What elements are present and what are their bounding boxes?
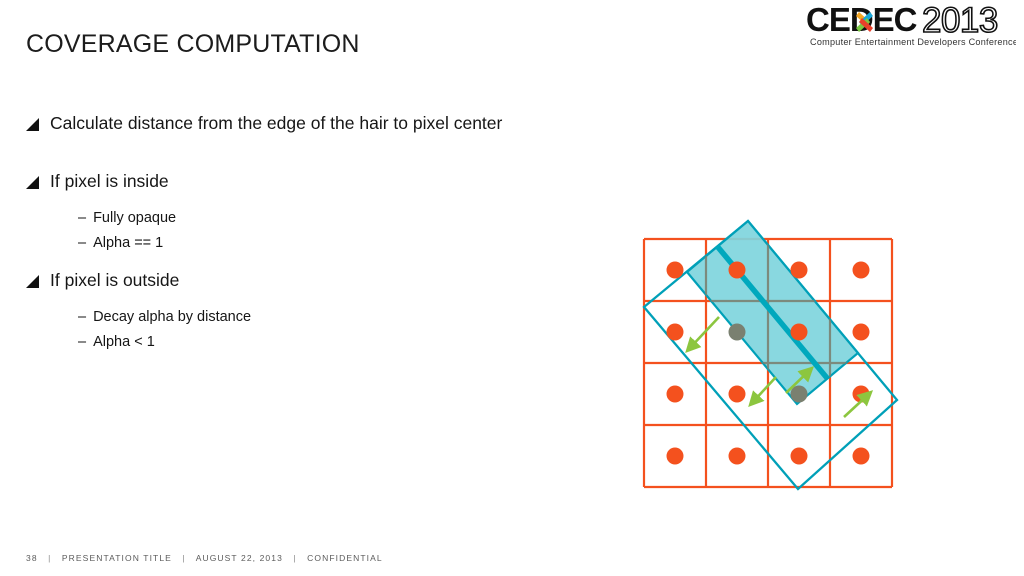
footer-separator: | — [175, 553, 192, 563]
pixel-dot — [667, 324, 684, 341]
footer-page-number: 38 — [26, 553, 38, 563]
footer: 38 | PRESENTATION TITLE | AUGUST 22, 201… — [26, 553, 383, 563]
pixel-dot — [729, 448, 746, 465]
distance-arrow-outside-2 — [751, 377, 776, 404]
covered-pixel-dot — [791, 386, 808, 403]
bullet-level1-if-pixel-inside: If pixel is inside — [26, 170, 626, 192]
bullet-level2-alpha-less-than-1: – Alpha < 1 — [78, 332, 626, 353]
pixel-dot — [729, 262, 746, 279]
footer-separator: | — [41, 553, 58, 563]
bullet-text: Alpha < 1 — [93, 332, 155, 353]
bullet-level2-fully-opaque: – Fully opaque — [78, 208, 626, 229]
bullet-text: Decay alpha by distance — [93, 307, 251, 328]
dash-marker-icon: – — [78, 307, 86, 328]
footer-date: AUGUST 22, 2013 — [196, 553, 283, 563]
distance-arrow-outside-1 — [688, 317, 719, 350]
slide-canvas: COVERAGE COMPUTATION CEDEC 2013 Computer… — [0, 0, 1024, 576]
dash-marker-icon: – — [78, 233, 86, 254]
cedec-logo: CEDEC 2013 Computer Entertainment Develo… — [806, 4, 1016, 50]
pixel-dot — [853, 262, 870, 279]
bullet-level1-if-pixel-outside: If pixel is outside — [26, 269, 626, 291]
bullet-list: Calculate distance from the edge of the … — [26, 112, 626, 357]
pixel-dot — [667, 262, 684, 279]
pixel-dot — [791, 448, 808, 465]
logo-year: 2013 — [922, 4, 998, 40]
bullet-text: Calculate distance from the edge of the … — [50, 112, 502, 134]
triangle-marker-icon — [26, 176, 39, 189]
footer-presentation-title: PRESENTATION TITLE — [62, 553, 172, 563]
pixel-dot — [791, 324, 808, 341]
bullet-level2-decay-alpha: – Decay alpha by distance — [78, 307, 626, 328]
svg-text:2013: 2013 — [922, 4, 998, 40]
pixel-coverage-diagram — [620, 205, 920, 505]
bullet-text: Fully opaque — [93, 208, 176, 229]
pixel-dot — [791, 262, 808, 279]
triangle-marker-icon — [26, 275, 39, 288]
pixel-dot — [853, 324, 870, 341]
pixel-dot — [729, 386, 746, 403]
logo-tagline: Computer Entertainment Developers Confer… — [810, 37, 1016, 47]
bullet-level2-alpha-equals-1: – Alpha == 1 — [78, 233, 626, 254]
pixel-dot — [667, 448, 684, 465]
footer-classification: CONFIDENTIAL — [307, 553, 383, 563]
bullet-level1-calculate-distance: Calculate distance from the edge of the … — [26, 112, 626, 134]
pixel-dot — [853, 448, 870, 465]
triangle-marker-icon — [26, 118, 39, 131]
pixel-dot — [667, 386, 684, 403]
bullet-text: If pixel is inside — [50, 170, 169, 192]
covered-pixel-dot — [729, 324, 746, 341]
dash-marker-icon: – — [78, 332, 86, 353]
page-title: COVERAGE COMPUTATION — [26, 30, 360, 59]
footer-separator: | — [286, 553, 303, 563]
bullet-text: Alpha == 1 — [93, 233, 163, 254]
bullet-text: If pixel is outside — [50, 269, 179, 291]
dash-marker-icon: – — [78, 208, 86, 229]
